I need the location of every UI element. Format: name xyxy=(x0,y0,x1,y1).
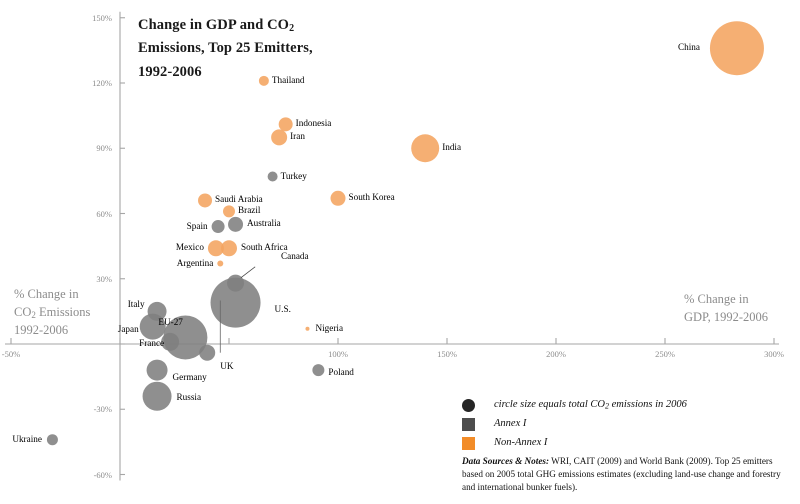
x-axis-tick-label: 150% xyxy=(425,349,469,359)
data-point-label: France xyxy=(139,339,164,348)
data-point-label: Canada xyxy=(281,252,309,261)
legend-annex1-label: Annex I xyxy=(494,418,526,429)
data-bubble[interactable] xyxy=(221,240,237,256)
data-point-label: U.S. xyxy=(275,305,291,314)
legend-row-size: circle size equals total CO2 emissions i… xyxy=(462,398,792,414)
x-axis-title-line-2: GDP, 1992-2006 xyxy=(684,309,794,327)
legend-row-non-annex1[interactable]: Non-Annex I xyxy=(462,436,792,452)
data-point-label: Ukraine xyxy=(12,435,42,444)
data-bubble[interactable] xyxy=(47,434,58,445)
x-axis-tick-label: -50% xyxy=(0,349,33,359)
y-axis-emissions: Emissions xyxy=(36,305,91,319)
x-axis-tick-label: 200% xyxy=(534,349,578,359)
data-bubble[interactable] xyxy=(268,172,278,182)
data-bubble[interactable] xyxy=(279,117,293,131)
legend-size-label-a: circle size equals total CO xyxy=(494,399,605,410)
data-bubble[interactable] xyxy=(710,21,764,75)
data-bubble[interactable] xyxy=(312,364,324,376)
y-axis-tick-label: 150% xyxy=(78,13,112,23)
legend-size-label: circle size equals total CO2 emissions i… xyxy=(494,399,687,411)
y-axis-tick-label: -60% xyxy=(78,470,112,480)
canada-leader-line xyxy=(241,267,255,278)
data-bubble[interactable] xyxy=(212,220,225,233)
data-point-label: Brazil xyxy=(238,206,260,215)
data-point-label: Iran xyxy=(290,132,305,141)
x-axis-tick-label: 300% xyxy=(752,349,796,359)
data-point-label: Australia xyxy=(247,219,281,228)
data-bubble[interactable] xyxy=(199,345,215,361)
data-point-label: Poland xyxy=(328,368,354,377)
legend-size-label-b: emissions in 2006 xyxy=(609,399,687,410)
bubble-chart: Change in GDP and CO2 Emissions, Top 25 … xyxy=(0,0,800,504)
y-axis-title-line-1: % Change in xyxy=(14,286,114,304)
data-point-label: Mexico xyxy=(176,243,204,252)
y-axis-tick-label: 60% xyxy=(78,209,112,219)
legend-annex1-swatch-icon xyxy=(462,418,475,431)
data-point-label: Germany xyxy=(173,373,207,382)
data-bubble[interactable] xyxy=(259,76,269,86)
data-point-label: Spain xyxy=(187,222,208,231)
data-point-label: Russia xyxy=(177,393,202,402)
data-point-label: Argentina xyxy=(177,259,214,268)
legend-row-annex1[interactable]: Annex I xyxy=(462,417,792,433)
legend-non-annex1-swatch-icon xyxy=(462,437,475,450)
data-bubble[interactable] xyxy=(228,217,243,232)
y-axis-tick-label: 120% xyxy=(78,78,112,88)
data-point-label: EU-27 xyxy=(158,318,183,327)
data-point-label: Turkey xyxy=(281,172,307,181)
y-axis-tick-label: 90% xyxy=(78,143,112,153)
data-bubble[interactable] xyxy=(411,134,439,162)
data-bubble[interactable] xyxy=(217,261,223,267)
y-axis-title-line-3: 1992-2006 xyxy=(14,322,114,340)
x-axis-title: % Change in GDP, 1992-2006 xyxy=(684,291,794,327)
x-axis-title-line-1: % Change in xyxy=(684,291,794,309)
data-bubble[interactable] xyxy=(147,360,168,381)
data-bubble[interactable] xyxy=(223,205,235,217)
y-axis-tick-label: 30% xyxy=(78,274,112,284)
legend-non-annex1-label: Non-Annex I xyxy=(494,437,547,448)
data-point-label: Japan xyxy=(118,325,139,334)
x-axis-tick-label: 250% xyxy=(643,349,687,359)
chart-legend: circle size equals total CO2 emissions i… xyxy=(462,398,792,455)
y-axis-title-line-2: CO2 Emissions xyxy=(14,304,114,322)
data-point-label: Nigeria xyxy=(315,324,343,333)
data-point-label: Thailand xyxy=(272,76,305,85)
y-axis-co2: CO xyxy=(14,305,31,319)
data-point-label: Indonesia xyxy=(296,119,332,128)
data-bubble[interactable] xyxy=(198,193,212,207)
data-bubble[interactable] xyxy=(143,382,172,411)
data-point-label: Saudi Arabia xyxy=(215,195,263,204)
data-bubble[interactable] xyxy=(331,191,346,206)
x-axis-tick-label: 100% xyxy=(316,349,360,359)
legend-circle-icon xyxy=(462,399,475,412)
source-note: Data Sources & Notes: WRI, CAIT (2009) a… xyxy=(462,455,792,494)
source-note-label: Data Sources & Notes: xyxy=(462,456,549,466)
data-bubble[interactable] xyxy=(271,129,287,145)
y-axis-tick-label: -30% xyxy=(78,404,112,414)
data-point-label: China xyxy=(678,43,700,52)
data-bubble[interactable] xyxy=(305,327,309,331)
y-axis-title: % Change in CO2 Emissions 1992-2006 xyxy=(14,286,114,339)
data-point-label: UK xyxy=(220,362,233,371)
data-point-label: South Korea xyxy=(349,193,395,202)
data-point-label: Italy xyxy=(128,300,145,309)
data-point-label: India xyxy=(442,143,461,152)
